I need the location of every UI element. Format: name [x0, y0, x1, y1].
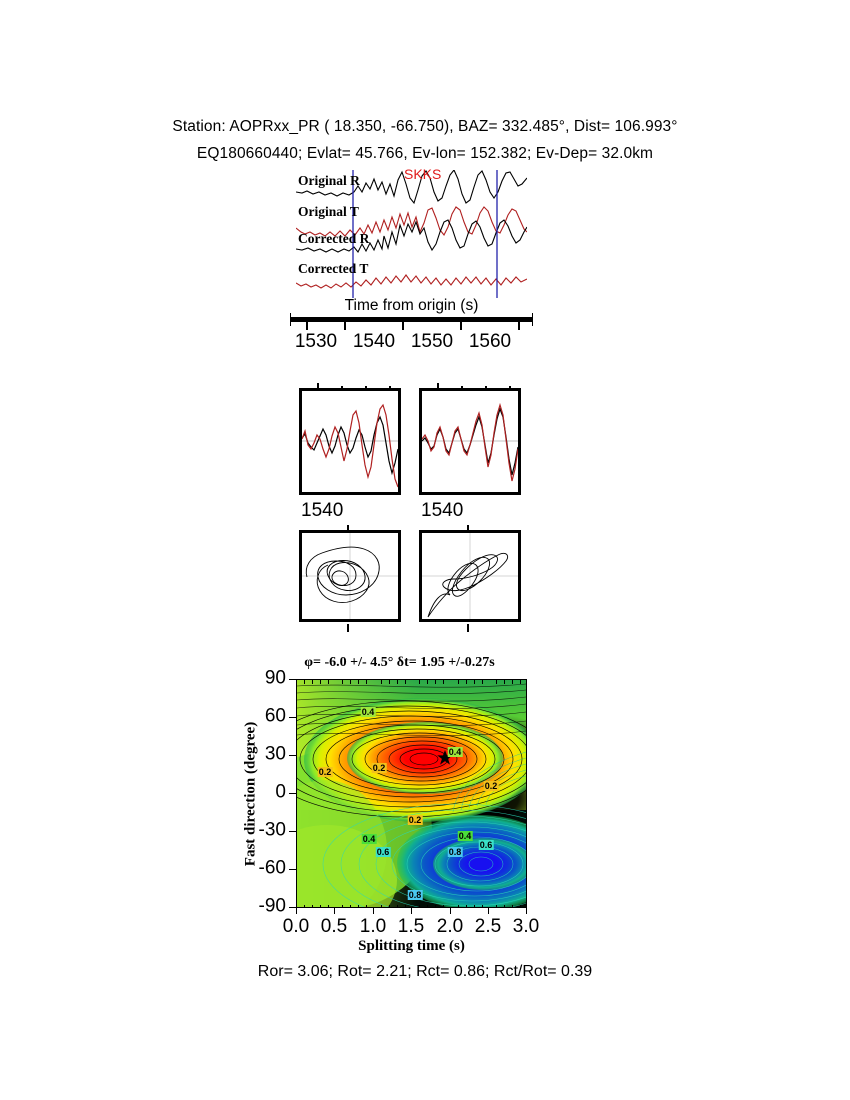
contour-surface	[297, 680, 526, 907]
particle-motion-corrected	[419, 530, 521, 622]
y-tick-label: 90	[265, 668, 286, 690]
time-tick-major	[518, 322, 520, 330]
fast-slow-panel-uncorrected	[299, 388, 401, 495]
event-info-line: EQ180660440; Evlat= 45.766, Ev-lon= 152.…	[0, 145, 850, 163]
time-tick-major	[344, 322, 346, 330]
x-tick	[334, 908, 335, 914]
time-tick-major	[460, 322, 462, 330]
y-tick-label: 30	[265, 744, 286, 766]
quality-metrics-line: Ror= 3.06; Rot= 2.21; Rct= 0.86; Rct/Rot…	[0, 963, 850, 981]
y-tick-label: -30	[259, 820, 286, 842]
y-tick-label: 0	[275, 782, 286, 804]
x-tick	[488, 908, 489, 914]
contour-label: 0.4	[458, 831, 473, 841]
x-tick-label: 0.5	[321, 916, 347, 938]
hodogram-uncorrected	[302, 533, 398, 619]
contour-label: 0.4	[362, 834, 377, 844]
x-tick	[411, 908, 412, 914]
contour-label: 0.2	[484, 781, 499, 791]
y-tick	[289, 679, 296, 680]
y-tick-label: 60	[265, 706, 286, 728]
phase-label-skks: SKKS	[404, 166, 441, 182]
x-tick	[373, 908, 374, 914]
station-info-line: Station: AOPRxx_PR ( 18.350, -66.750), B…	[0, 118, 850, 136]
y-tick-label: -90	[259, 896, 286, 918]
trace-label-corrected-t: Corrected T	[298, 261, 368, 277]
y-tick	[289, 907, 296, 908]
y-tick	[289, 793, 296, 794]
contour-label: 0.4	[361, 707, 376, 717]
contour-label: 0.8	[408, 890, 423, 900]
time-tick-label: 1540	[353, 331, 395, 353]
particle-motion-uncorrected	[299, 530, 401, 622]
contour-label: 0.6	[376, 847, 391, 857]
fast-slow-traces-uncorrected	[302, 391, 398, 492]
x-tick	[526, 908, 527, 914]
contour-label: 0.2	[408, 815, 423, 825]
time-axis-end-right	[532, 313, 533, 326]
time-tick-label: 1530	[295, 331, 337, 353]
trace-label-original-r: Original R	[298, 173, 360, 189]
contour-title: φ= -6.0 +/- 4.5° δt= 1.95 +/-0.27s	[284, 655, 515, 671]
x-tick	[296, 908, 297, 914]
x-tick-label: 0.0	[283, 916, 309, 938]
x-tick	[450, 908, 451, 914]
contour-label: 0.6	[479, 840, 494, 850]
trace-label-corrected-r: Corrected R	[298, 231, 369, 247]
time-tick-label: 1550	[411, 331, 453, 353]
y-tick	[289, 869, 296, 870]
time-axis-bar	[290, 317, 533, 322]
fast-slow-panel-corrected	[419, 388, 521, 495]
mini-panel-ticks-top	[299, 383, 401, 391]
contour-label: 0.2	[372, 763, 387, 773]
figure-page: Station: AOPRxx_PR ( 18.350, -66.750), B…	[0, 0, 850, 1100]
time-tick-minor	[306, 322, 308, 330]
mini-tick-label-left: 1540	[301, 500, 343, 522]
waveform-panel: Original R Original T Corrected R Correc…	[296, 170, 527, 298]
x-tick-label: 2.0	[437, 916, 463, 938]
energy-contour-plot: 0.4 0.4 0.2 0.2 0.2 0.2 0.4 0.4 0.6 0.6 …	[296, 679, 527, 908]
contour-label: 0.4	[448, 747, 463, 757]
contour-label: 0.8	[448, 847, 463, 857]
x-tick-label: 1.5	[398, 916, 424, 938]
x-tick-label: 2.5	[475, 916, 501, 938]
y-tick	[289, 831, 296, 832]
time-tick-label: 1560	[469, 331, 511, 353]
x-tick-label: 1.0	[360, 916, 386, 938]
y-tick	[289, 755, 296, 756]
contour-plot-wrapper: 0.4 0.4 0.2 0.2 0.2 0.2 0.4 0.4 0.6 0.6 …	[296, 679, 527, 908]
hodogram-corrected	[422, 533, 518, 619]
contour-label: 0.2	[318, 767, 333, 777]
mini-tick-label-right: 1540	[421, 500, 463, 522]
time-axis-title: Time from origin (s)	[290, 297, 533, 315]
mini-panel-ticks-top	[419, 383, 521, 391]
contour-xlabel: Splitting time (s)	[296, 938, 527, 955]
y-tick-label: -60	[259, 858, 286, 880]
x-tick-label: 3.0	[513, 916, 539, 938]
trace-label-original-t: Original T	[298, 204, 359, 220]
fast-slow-traces-corrected	[422, 391, 518, 492]
time-axis-end-left	[290, 313, 291, 326]
contour-ylabel-text: Fast direction (degree)	[243, 721, 260, 865]
y-tick	[289, 717, 296, 718]
time-axis: Time from origin (s) 1530 1540 1550 1560	[290, 313, 533, 325]
time-tick-major	[402, 322, 404, 330]
